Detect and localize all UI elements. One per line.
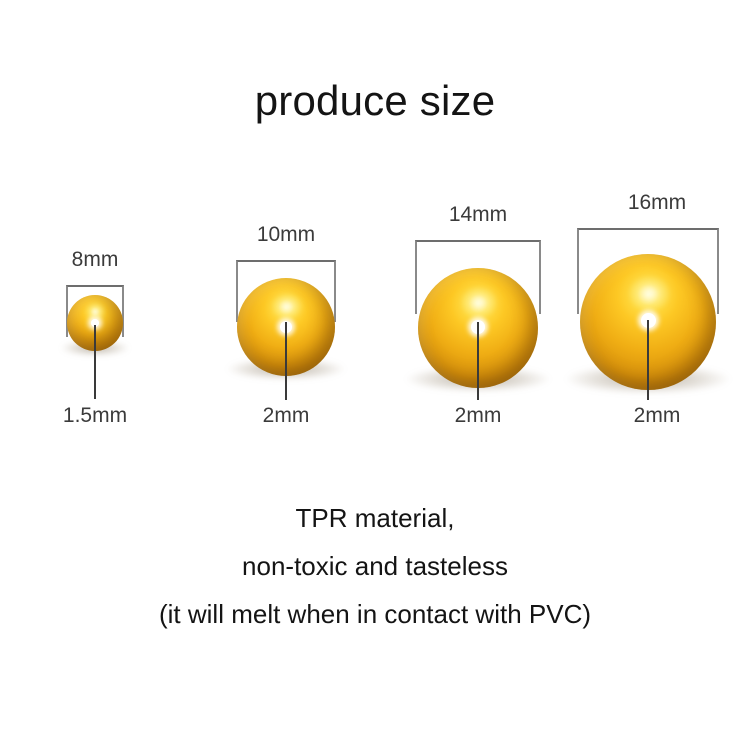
specimen-row: 8mm 1.5mm 10mm 2mm 14mm 2mm	[0, 0, 750, 460]
diameter-label-10mm: 10mm	[216, 224, 356, 245]
description-line-3: (it will melt when in contact with PVC)	[0, 601, 750, 627]
leader-line-10mm	[285, 322, 287, 400]
hole-label-16mm: 2mm	[568, 405, 746, 426]
material-description: TPR material, non-toxic and tasteless (i…	[0, 505, 750, 627]
hole-label-10mm: 2mm	[216, 405, 356, 426]
leader-line-14mm	[477, 322, 479, 400]
specimen-ball-14mm: 14mm 2mm	[398, 0, 558, 460]
hole-label-14mm: 2mm	[398, 405, 558, 426]
leader-line-8mm	[94, 325, 96, 399]
diameter-label-8mm: 8mm	[40, 249, 150, 270]
leader-line-16mm	[647, 320, 649, 400]
hole-label-8mm: 1.5mm	[30, 405, 160, 426]
specimen-ball-16mm: 16mm 2mm	[568, 0, 746, 460]
diameter-label-14mm: 14mm	[398, 204, 558, 225]
specimen-ball-10mm: 10mm 2mm	[216, 0, 356, 460]
diameter-label-16mm: 16mm	[568, 192, 746, 213]
description-line-1: TPR material,	[0, 505, 750, 531]
specimen-ball-8mm: 8mm 1.5mm	[40, 0, 150, 460]
description-line-2: non-toxic and tasteless	[0, 553, 750, 579]
